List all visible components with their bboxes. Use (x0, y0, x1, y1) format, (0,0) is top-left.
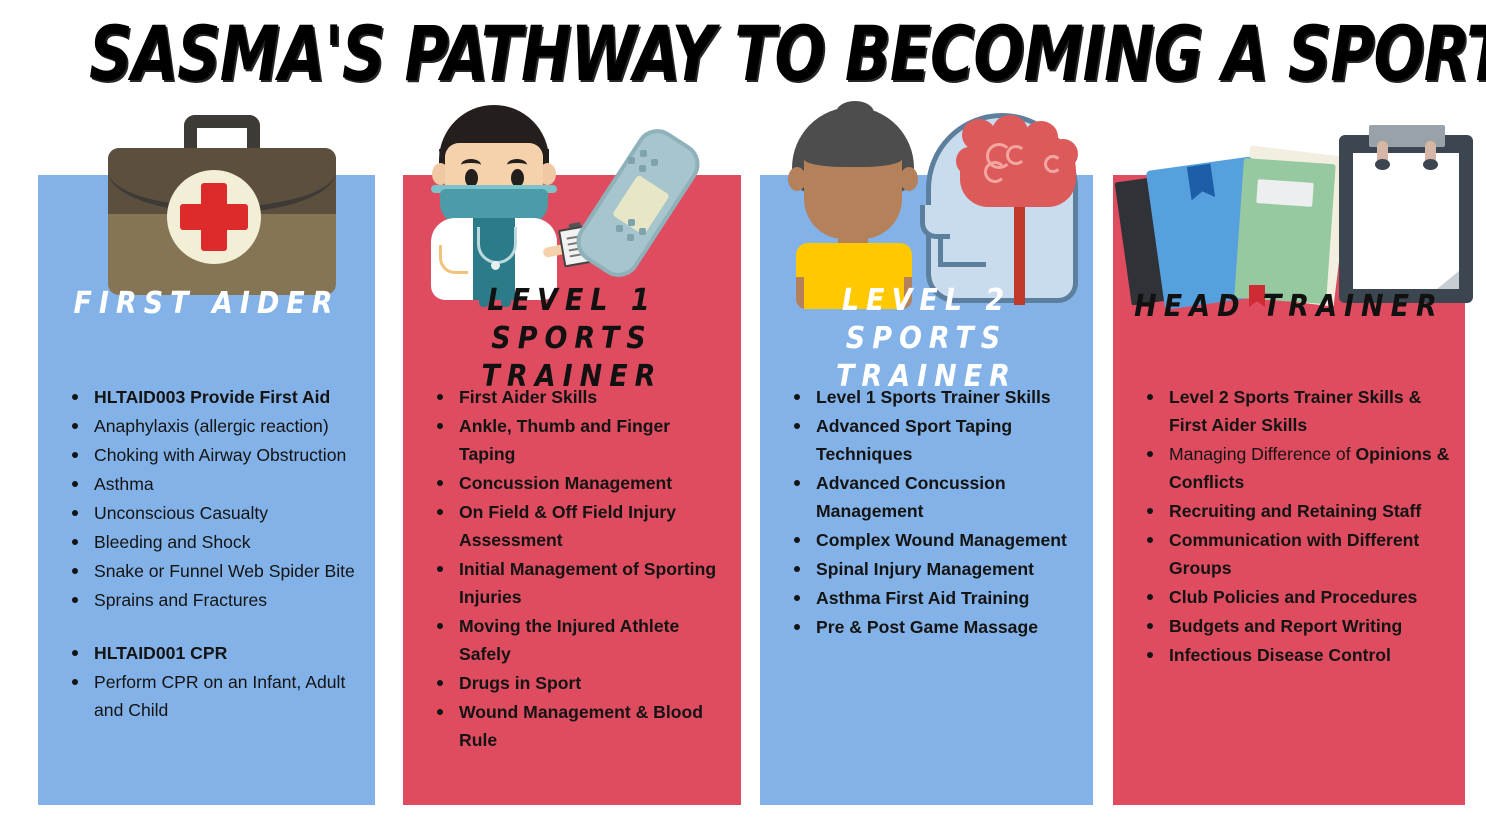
list-item-text-regular: Managing Difference of (1169, 444, 1355, 464)
bullet-list-head-trainer: Level 2 Sports Trainer Skills & First Ai… (1129, 383, 1453, 670)
column-head-trainer: HEAD TRAINER Level 2 Sports Trainer Skil… (1113, 175, 1465, 805)
infographic-poster: SASMA'S PATHWAY TO BECOMING A SPORTS TRA… (0, 0, 1486, 831)
person-ear-right (900, 167, 918, 191)
brain-head-icon (920, 113, 1098, 303)
list-item: Pre & Post Game Massage (776, 613, 1081, 641)
clipboard-paper (1353, 153, 1459, 289)
person-sleeve-right (888, 243, 912, 277)
list-item: Spinal Injury Management (776, 555, 1081, 583)
page-title: SASMA'S PATHWAY TO BECOMING A SPORTS TRA… (89, 16, 1397, 92)
list-item: On Field & Off Field Injury Assessment (419, 498, 729, 554)
list-item: HLTAID003 Provide First Aid (54, 383, 363, 411)
doctor-pocket (439, 245, 468, 274)
list-item: Advanced Sport Taping Techniques (776, 412, 1081, 468)
list-item: Anaphylaxis (allergic reaction) (54, 412, 363, 440)
head-nose (920, 205, 950, 239)
list-item: Concussion Management (419, 469, 729, 497)
bullet-list-first-aider: HLTAID003 Provide First Aid Anaphylaxis … (54, 383, 363, 725)
list-item: Choking with Airway Obstruction (54, 441, 363, 469)
list-item: Unconscious Casualty (54, 499, 363, 527)
list-item: Sprains and Fractures (54, 586, 363, 614)
list-item: Level 2 Sports Trainer Skills & First Ai… (1129, 383, 1453, 439)
list-item: Recruiting and Retaining Staff (1129, 497, 1453, 525)
list-item: Advanced Concussion Management (776, 469, 1081, 525)
bullet-list-level-1: First Aider Skills Ankle, Thumb and Fing… (419, 383, 729, 755)
list-item: Complex Wound Management (776, 526, 1081, 554)
column-heading-level-2: LEVEL 2 SPORTS TRAINER (760, 282, 1093, 396)
column-heading-level-1: LEVEL 1 SPORTS TRAINER (403, 282, 741, 396)
list-item: Asthma (54, 470, 363, 498)
book-label (1256, 179, 1314, 207)
list-item: Moving the Injured Athlete Safely (419, 612, 729, 668)
list-item: Wound Management & Blood Rule (419, 698, 729, 754)
person-icon (782, 107, 932, 297)
column-level-2-sports-trainer: LEVEL 2 SPORTS TRAINER Level 1 Sports Tr… (760, 175, 1093, 805)
list-item: First Aider Skills (419, 383, 729, 411)
list-item: Managing Difference of Opinions & Confli… (1129, 440, 1453, 496)
books-and-clipboard-icon (1121, 113, 1481, 305)
column-heading-head-trainer: HEAD TRAINER (1113, 288, 1465, 326)
list-item: Asthma First Aid Training (776, 584, 1081, 612)
column-first-aider: FIRST AIDER HLTAID003 Provide First Aid … (38, 175, 375, 805)
column-heading-first-aider: FIRST AIDER (38, 285, 375, 323)
first-aid-kit-icon (102, 115, 342, 295)
stethoscope-chestpiece (491, 261, 500, 270)
list-item: Snake or Funnel Web Spider Bite (54, 557, 363, 585)
person-sleeve-left (796, 243, 820, 277)
bandage-plaster-icon (578, 115, 713, 275)
book-green (1234, 158, 1336, 304)
bullet-list-level-2: Level 1 Sports Trainer Skills Advanced S… (776, 383, 1081, 642)
list-item: Perform CPR on an Infant, Adult and Chil… (54, 668, 363, 724)
list-item: Drugs in Sport (419, 669, 729, 697)
person-fringe (804, 147, 902, 167)
list-spacer (54, 615, 363, 639)
list-item: Bleeding and Shock (54, 528, 363, 556)
list-item: Communication with Different Groups (1129, 526, 1453, 582)
column-level-1-sports-trainer: LEVEL 1 SPORTS TRAINER First Aider Skill… (403, 175, 741, 805)
list-item: Budgets and Report Writing (1129, 612, 1453, 640)
head-chin (938, 239, 986, 267)
list-item: Initial Management of Sporting Injuries (419, 555, 729, 611)
red-cross-horizontal (180, 204, 248, 230)
list-item: Ankle, Thumb and Finger Taping (419, 412, 729, 468)
list-item: Club Policies and Procedures (1129, 583, 1453, 611)
list-item: Infectious Disease Control (1129, 641, 1453, 669)
list-item: HLTAID001 CPR (54, 639, 363, 667)
list-item: Level 1 Sports Trainer Skills (776, 383, 1081, 411)
